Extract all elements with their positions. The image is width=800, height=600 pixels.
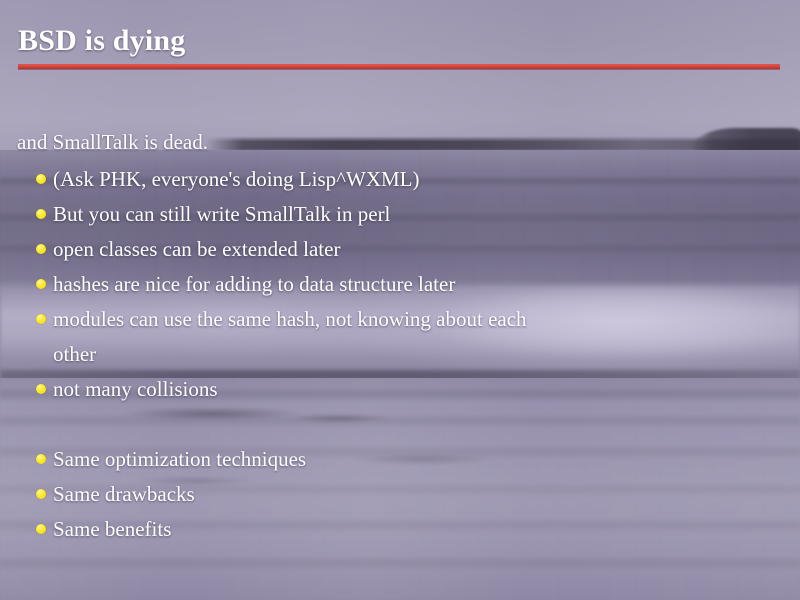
bullet-list: (Ask PHK, everyone's doing Lisp^WXML)But… [0, 162, 800, 547]
bullet-text: But you can still write SmallTalk in per… [53, 197, 800, 232]
bullet-item[interactable]: (Ask PHK, everyone's doing Lisp^WXML) [0, 162, 800, 197]
bullet-dot-icon [36, 244, 46, 254]
lead-line: and SmallTalk is dead. [17, 130, 208, 155]
bullet-item[interactable]: Same drawbacks [0, 477, 800, 512]
bullet-text: other [53, 337, 800, 372]
bullet-dot-icon [36, 384, 46, 394]
bullet-text: (Ask PHK, everyone's doing Lisp^WXML) [53, 162, 800, 197]
bullet-text: not many collisions [53, 372, 800, 407]
bullet-text: Same optimization techniques [53, 442, 800, 477]
bullet-item[interactable]: not many collisions [0, 372, 800, 407]
bullet-text: Same benefits [53, 512, 800, 547]
bullet-dot-icon [36, 454, 46, 464]
slide-content: BSD is dying and SmallTalk is dead. (Ask… [0, 0, 800, 600]
bullet-text: Same drawbacks [53, 477, 800, 512]
bullet-item[interactable]: Same benefits [0, 512, 800, 547]
bullet-item[interactable]: other [0, 337, 800, 372]
presentation-slide: BSD is dying and SmallTalk is dead. (Ask… [0, 0, 800, 600]
bullet-item[interactable]: But you can still write SmallTalk in per… [0, 197, 800, 232]
bullet-dot-icon [36, 314, 46, 324]
bullet-item[interactable]: hashes are nice for adding to data struc… [0, 267, 800, 302]
bullet-item[interactable]: open classes can be extended later [0, 232, 800, 267]
bullet-item[interactable]: Same optimization techniques [0, 442, 800, 477]
bullet-item[interactable]: modules can use the same hash, not knowi… [0, 302, 800, 337]
bullet-spacer [0, 407, 800, 442]
title-underline-rule [18, 64, 780, 69]
bullet-text: hashes are nice for adding to data struc… [53, 267, 800, 302]
bullet-text: open classes can be extended later [53, 232, 800, 267]
bullet-dot-icon [36, 524, 46, 534]
bullet-dot-icon [36, 209, 46, 219]
slide-title: BSD is dying [18, 24, 185, 58]
bullet-text: modules can use the same hash, not knowi… [53, 302, 800, 337]
bullet-dot-icon [36, 279, 46, 289]
bullet-dot-icon [36, 174, 46, 184]
bullet-dot-icon [36, 489, 46, 499]
